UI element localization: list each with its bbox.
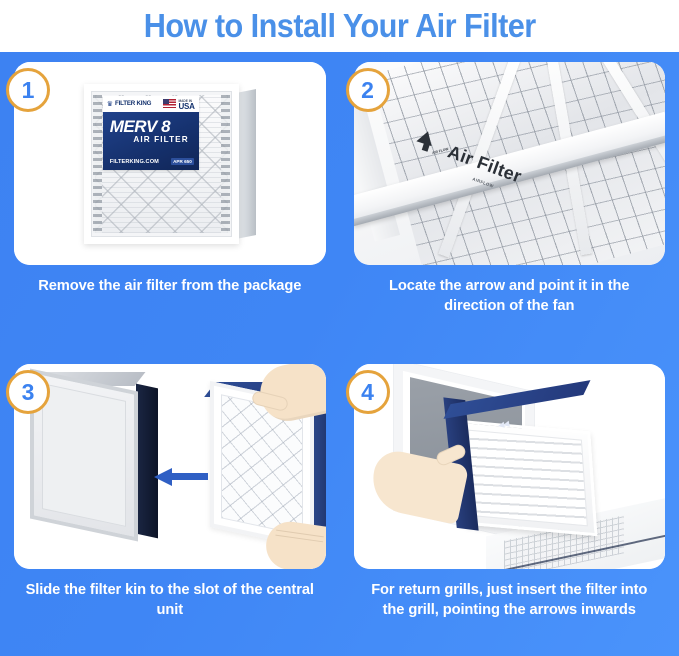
product-label: ♛ FILTER KING MADE IN USA <box>103 96 199 170</box>
central-unit-inner-panel <box>42 383 126 527</box>
page-title: How to Install Your Air Filter <box>144 7 536 45</box>
label-footer: FILTERKING.COM APR 650 <box>110 158 194 165</box>
step-panel-1: 1 ♛ FILTER <box>0 52 340 354</box>
louver-slats <box>468 430 588 527</box>
filter-arrows-icon: ◀◀ <box>497 419 509 430</box>
infographic-page: How to Install Your Air Filter 1 <box>0 0 679 656</box>
step-panel-2: 2 AIR FLOW Air Filter AIRFLOW Loc <box>340 52 679 354</box>
filter-side-face <box>236 89 256 239</box>
steps-grid: 1 ♛ FILTER <box>0 52 679 656</box>
step-badge-1: 1 <box>6 68 50 112</box>
crown-icon: ♛ <box>107 100 113 108</box>
step-caption-3: Slide the filter kin to the slot of the … <box>14 580 326 620</box>
step-image-3: ▶▶ <box>14 364 326 569</box>
step-badge-3: 3 <box>6 370 50 414</box>
step-badge-4: 4 <box>346 370 390 414</box>
step-badge-2: 2 <box>346 68 390 112</box>
step-image-4: ◀◀ <box>354 364 666 569</box>
label-header: ♛ FILTER KING MADE IN USA <box>103 96 199 112</box>
filter-pleat-edge-right <box>221 95 230 233</box>
step-image-1: ♛ FILTER KING MADE IN USA <box>14 62 326 265</box>
filter-front-face: ♛ FILTER KING MADE IN USA <box>84 84 239 244</box>
step-card-2: AIR FLOW Air Filter AIRFLOW <box>354 62 666 265</box>
merv-rating: MERV 8 <box>110 118 193 136</box>
step-card-4: ◀◀ <box>354 364 666 569</box>
made-in-text: MADE IN USA <box>178 99 194 109</box>
step-panel-4: 4 ◀◀ For return gr <box>340 354 679 656</box>
step-image-2: AIR FLOW Air Filter AIRFLOW <box>354 62 666 265</box>
brand-lockup: ♛ FILTER KING <box>107 100 151 108</box>
label-body: MERV 8 AIR FILTER FILTERKING.COM APR 650 <box>103 112 199 170</box>
title-bar: How to Install Your Air Filter <box>0 0 679 52</box>
step-panel-3: 3 ▶▶ <box>0 354 340 656</box>
direction-arrow-icon <box>154 468 208 486</box>
step-caption-1: Remove the air filter from the package <box>14 276 326 296</box>
filter-pleat-edge-left <box>93 95 102 233</box>
made-in-usa-lockup: MADE IN USA <box>163 99 194 109</box>
usa-flag-icon <box>163 99 176 108</box>
step-card-1: ♛ FILTER KING MADE IN USA <box>14 62 326 265</box>
label-subtitle: AIR FILTER <box>110 135 193 144</box>
brand-website: FILTERKING.COM <box>110 159 159 165</box>
step-caption-2: Locate the arrow and point it in the dir… <box>354 276 666 316</box>
step-card-3: ▶▶ <box>14 364 326 569</box>
brand-name: FILTER KING <box>115 101 151 107</box>
apr-rating-badge: APR 650 <box>171 158 194 165</box>
usa-line: USA <box>178 104 194 109</box>
step-caption-4: For return grills, just insert the filte… <box>354 580 666 620</box>
central-unit-slot-depth <box>136 384 158 539</box>
grill-louver-door <box>458 420 597 537</box>
air-filter-product-photo: ♛ FILTER KING MADE IN USA <box>84 84 256 244</box>
